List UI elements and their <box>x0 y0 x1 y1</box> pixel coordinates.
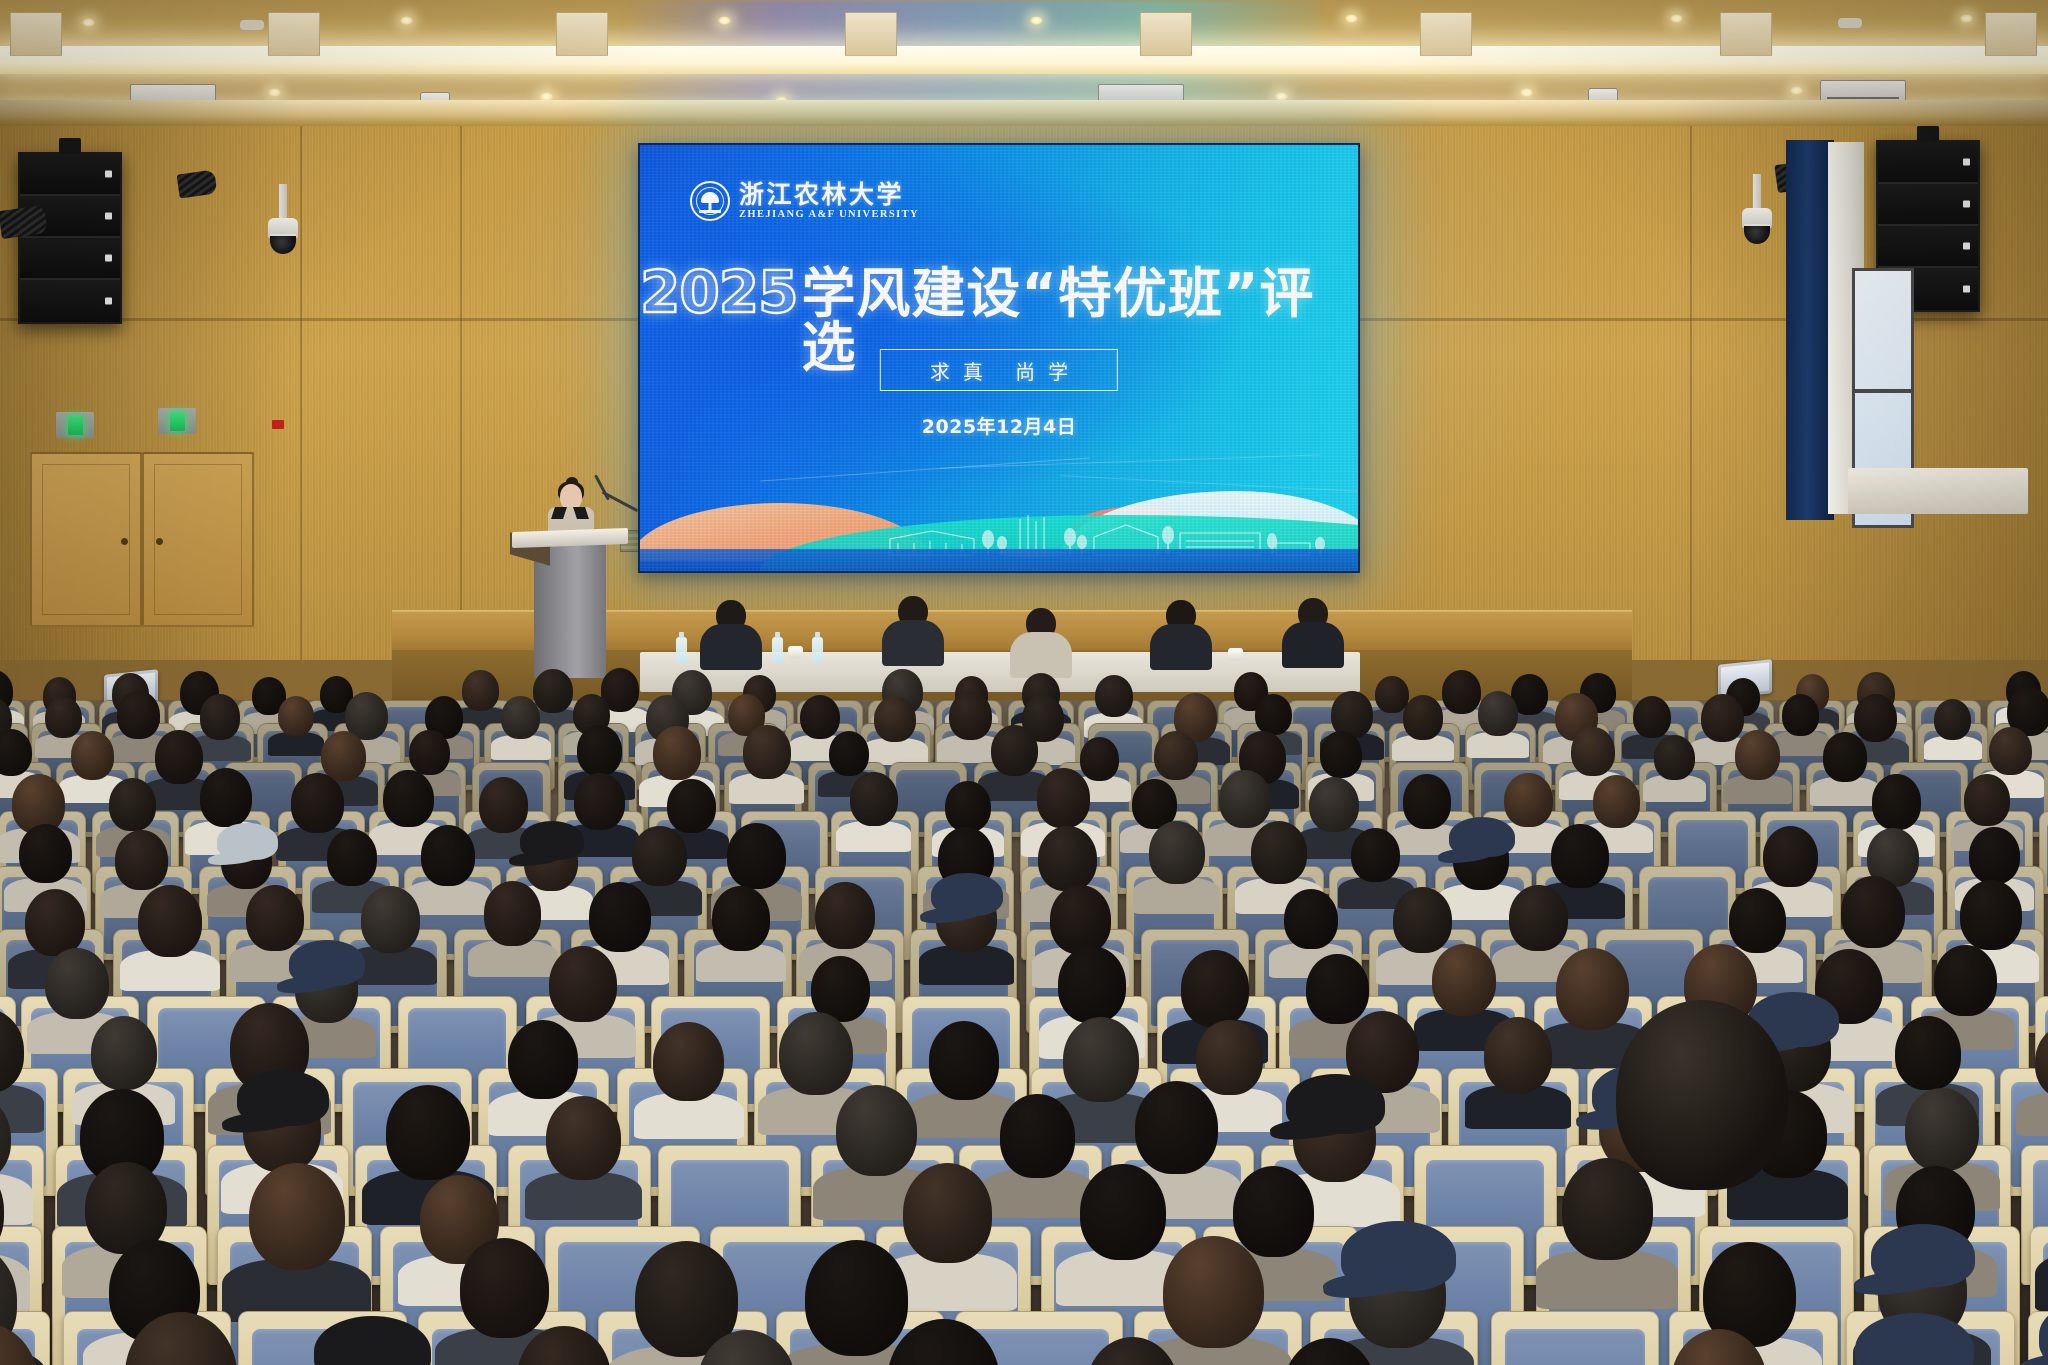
audience-head <box>1038 826 1096 891</box>
audience-head <box>1671 1329 1767 1365</box>
audience-head <box>945 781 991 832</box>
audience-head <box>1163 1236 1263 1348</box>
audience-member <box>155 730 203 784</box>
audience-member <box>19 824 72 883</box>
screen-illustration <box>640 451 1358 571</box>
audience-head <box>1593 775 1640 828</box>
auditorium-door-left-1 <box>30 452 142 627</box>
audience-head <box>697 1330 796 1365</box>
ceiling-sprinkler <box>1838 18 1862 28</box>
audience-head <box>246 885 304 950</box>
ceiling-panel <box>1420 12 1472 56</box>
audience-head <box>1905 1088 1979 1171</box>
audience-member <box>1735 730 1779 780</box>
audience-head <box>1393 887 1453 954</box>
audience-member <box>1284 889 1338 950</box>
audience-head <box>1934 699 1971 741</box>
wall-seam <box>460 126 462 660</box>
audience-member <box>546 1096 621 1180</box>
audience-head <box>727 823 786 889</box>
tea-cup <box>788 646 803 659</box>
audience-member <box>462 670 498 711</box>
panelist-body <box>1282 622 1344 668</box>
audience-member <box>1181 950 1249 1027</box>
audience-head <box>0 729 32 776</box>
audience-member <box>246 885 304 950</box>
audience-head <box>200 768 252 827</box>
camera-operator <box>1616 1000 1788 1190</box>
fire-alarm-left <box>272 420 284 429</box>
audience-head <box>383 770 434 827</box>
ceiling-downlight <box>1520 88 1533 97</box>
ceiling-downlight <box>1790 86 1803 95</box>
audience-member <box>1969 827 2020 884</box>
audience-head <box>653 1022 724 1101</box>
audience-head <box>1763 826 1818 888</box>
baseball-cap <box>237 1070 329 1126</box>
audience-member <box>697 1330 796 1365</box>
audience-head <box>409 730 449 775</box>
audience-head <box>1782 694 1819 736</box>
audience-member <box>1934 699 1971 741</box>
audience-member <box>1478 691 1518 736</box>
baseball-cap <box>1341 1221 1456 1291</box>
audience-member <box>1403 695 1443 740</box>
audience-member <box>929 1021 999 1100</box>
panelist-body <box>700 624 762 670</box>
audience-head <box>1080 1164 1166 1260</box>
audience-member <box>1863 1331 1964 1365</box>
audience-head <box>71 731 114 780</box>
ceiling-panel <box>10 12 62 56</box>
audience-member <box>1251 821 1308 884</box>
audience-head <box>1135 1081 1218 1174</box>
audience-head <box>1895 1016 1961 1090</box>
audience-member <box>1086 1337 1180 1365</box>
audience-head <box>949 692 992 740</box>
audience-head <box>549 946 617 1022</box>
audience-head <box>1484 1017 1552 1093</box>
audience-head <box>1633 696 1671 739</box>
auditorium-seat[interactable] <box>1491 1311 1660 1365</box>
audience-head <box>874 696 916 743</box>
audience-member <box>589 882 651 952</box>
audience-member <box>779 1012 853 1095</box>
baseball-cap <box>1286 1074 1385 1134</box>
audience-member <box>887 1319 1000 1365</box>
screen-date: 2025年12月4日 <box>640 412 1358 439</box>
audience-member <box>1763 826 1818 888</box>
audience-head <box>589 882 651 952</box>
audience-head <box>743 725 791 779</box>
audience-member <box>479 777 528 832</box>
audience-head <box>779 1012 853 1095</box>
audience-member <box>91 1016 157 1090</box>
audience-member <box>0 1323 38 1365</box>
hill-deep-blue <box>640 549 1358 571</box>
audience-member <box>1453 827 1509 890</box>
audience-member <box>1484 1017 1552 1093</box>
screen-subtitle-frame: 求真 尚学 <box>880 349 1118 391</box>
audience-member <box>1905 1088 1979 1171</box>
camera-pole <box>1753 174 1761 210</box>
camera-dome <box>1744 224 1770 244</box>
speaker-module <box>1878 184 1978 226</box>
ceiling-panel <box>1985 12 2037 56</box>
baseball-cap <box>931 873 1003 917</box>
water-bottle <box>772 637 783 663</box>
audience-member <box>278 696 314 736</box>
bracket-right-icon <box>1107 349 1118 391</box>
audience-member <box>1320 731 1362 779</box>
audience-head <box>1251 821 1308 884</box>
audience-member <box>1163 1236 1263 1348</box>
ceiling-panel <box>556 12 608 56</box>
water-bottle <box>676 637 687 663</box>
audience-member <box>1255 694 1292 735</box>
audience-member <box>1934 945 1997 1016</box>
audience-member <box>1351 828 1400 883</box>
audience-head <box>1654 735 1695 780</box>
audience-member <box>949 692 992 740</box>
audience-head <box>517 1326 610 1365</box>
audience-member <box>1895 1016 1961 1090</box>
audience-head <box>1154 731 1198 780</box>
audience-member <box>1671 1329 1767 1365</box>
audience-member <box>484 881 542 946</box>
audience-head <box>125 1312 237 1365</box>
speaker-module <box>1878 226 1978 268</box>
audience-member <box>1442 670 1481 714</box>
audience-head <box>0 1009 24 1092</box>
audience-member <box>1823 732 1868 782</box>
audience-member <box>0 729 32 776</box>
audience-member <box>1633 696 1671 739</box>
audience-head <box>829 731 869 776</box>
audience-head <box>1284 889 1338 950</box>
audience-head <box>1735 730 1779 780</box>
panelist-body <box>882 620 944 666</box>
audience-member <box>829 731 869 776</box>
panelist-body <box>1150 624 1212 670</box>
ceiling-panel <box>845 12 897 56</box>
led-screen-surface: 浙江农林大学 ZHEJIANG A&F UNIVERSITY 2025 学风建设… <box>640 145 1358 571</box>
audience-member <box>1095 675 1133 717</box>
audience-head <box>460 1238 549 1338</box>
ceiling-downlight <box>1960 14 1973 23</box>
audience-head <box>462 670 498 711</box>
audience-member <box>291 773 344 832</box>
audience-member <box>1504 773 1552 827</box>
audience-head <box>1989 727 2032 775</box>
audience-member <box>574 773 625 830</box>
audience-member <box>249 1163 345 1271</box>
exit-sign-left-1 <box>56 412 94 438</box>
bracket-left-icon <box>880 349 891 391</box>
audience-head <box>361 886 421 953</box>
ceiling-panel <box>268 12 320 56</box>
audience-head <box>19 824 72 883</box>
audience-head <box>1403 774 1452 829</box>
audience-head <box>1000 1094 1074 1177</box>
audience-member <box>409 730 449 775</box>
audience-head <box>1509 885 1568 951</box>
audience-head <box>1551 824 1608 888</box>
university-logo: 浙江农林大学 ZHEJIANG A&F UNIVERSITY <box>690 181 919 221</box>
exit-sign-glow <box>68 416 83 435</box>
audience-head <box>1478 691 1518 736</box>
ceiling-panel <box>1140 12 1192 56</box>
audience-head <box>327 829 377 886</box>
audience-member <box>1037 768 1091 828</box>
title-year: 2025 <box>640 263 797 321</box>
audience-head <box>653 726 702 780</box>
audience-head <box>1050 885 1112 954</box>
audience-head <box>1960 880 2022 949</box>
audience-member <box>850 772 898 826</box>
audience-head <box>632 826 686 887</box>
tea-cup <box>1228 648 1243 661</box>
audience-member <box>549 946 617 1022</box>
audience-head <box>1969 827 2020 884</box>
panelist-body <box>1010 632 1072 678</box>
audience-head <box>501 696 540 739</box>
audience-member <box>221 832 272 889</box>
audience-member <box>2035 1024 2048 1100</box>
university-crest-icon <box>690 181 730 221</box>
audience-head <box>1964 774 2010 826</box>
audience-member <box>1782 694 1819 736</box>
audience-member <box>1149 821 1205 884</box>
speaker-module <box>1878 142 1978 184</box>
audience-member <box>1593 775 1640 828</box>
audience-member <box>903 1163 993 1263</box>
audience-head <box>1255 694 1292 735</box>
baseball-cap <box>1449 817 1515 857</box>
baseball-cap <box>1871 1224 1975 1287</box>
subtitle-bar: 求真 尚学 <box>891 349 1107 391</box>
audience-head <box>1086 1337 1180 1365</box>
audience-head <box>1219 770 1271 829</box>
audience-member <box>327 829 377 886</box>
audience-head <box>479 777 528 832</box>
baseball-cap <box>520 821 584 860</box>
audience-head <box>1504 773 1552 827</box>
audience-member <box>71 731 114 780</box>
audience-member <box>1964 774 2010 826</box>
audience-member <box>125 1312 237 1365</box>
audience-head <box>1309 777 1359 833</box>
audience-member <box>727 823 786 889</box>
audience-head <box>45 948 109 1020</box>
audience-head <box>25 889 85 957</box>
audience-head <box>850 772 898 826</box>
baseball-cap <box>289 940 364 986</box>
audience-member <box>1403 774 1452 829</box>
audience-head <box>1432 944 1496 1016</box>
audience-member <box>200 694 240 739</box>
ceiling-panel <box>1720 12 1772 56</box>
audience-member <box>383 770 434 827</box>
audience-member <box>1509 885 1568 951</box>
ceiling-sprinkler <box>240 20 264 30</box>
exit-sign-left-2 <box>158 408 196 434</box>
audience-head <box>1351 828 1400 883</box>
audience-member <box>1309 777 1359 833</box>
audience-member <box>632 826 686 887</box>
audience-member <box>322 1334 421 1365</box>
audience-head <box>577 725 622 776</box>
audience-member <box>1038 826 1096 891</box>
side-table-right <box>1848 468 2028 514</box>
audience-head <box>278 696 314 736</box>
audience-head <box>117 691 160 739</box>
audience-member <box>386 1085 471 1180</box>
audience-member <box>1349 1239 1446 1348</box>
audience-head <box>249 1163 345 1271</box>
audience-member <box>1551 824 1608 888</box>
audience-head <box>138 885 202 957</box>
audience-head <box>1037 768 1091 828</box>
audience-member <box>517 1326 610 1365</box>
audience-head <box>115 830 168 890</box>
audience-member <box>1654 735 1695 780</box>
operator-head <box>1616 1000 1788 1190</box>
audience-member <box>508 1020 578 1099</box>
audience-member <box>117 691 160 739</box>
audience-member <box>1080 1164 1166 1260</box>
audience-member <box>815 882 875 949</box>
audience-member <box>138 885 202 957</box>
wall-seam <box>300 126 302 660</box>
audience-head <box>2035 1024 2048 1100</box>
camera-dome <box>270 234 296 254</box>
ptz-camera-right <box>1742 208 1772 246</box>
audience-member <box>243 1084 321 1172</box>
audience-member <box>653 726 702 780</box>
ceiling-downlight <box>82 18 95 27</box>
ptz-camera-left <box>268 218 298 256</box>
speaker-module <box>20 238 120 280</box>
audience-head <box>1095 675 1133 717</box>
audience-member <box>1135 1081 1218 1174</box>
baseball-cap <box>217 823 277 860</box>
audience-member <box>501 696 540 739</box>
audience-member <box>109 778 156 831</box>
auditorium-door-left-2 <box>142 452 254 627</box>
blue-curtain-right <box>1786 140 1834 520</box>
audience-member <box>1283 1338 1376 1365</box>
audience-member <box>1063 1017 1139 1102</box>
audience-head <box>546 1096 621 1180</box>
audience-head <box>991 725 1037 777</box>
audience-head <box>1934 945 1997 1016</box>
audience-member <box>1050 885 1112 954</box>
window-mullion <box>1855 389 1911 393</box>
ceiling-downlight <box>1670 14 1683 23</box>
audience-member <box>577 725 622 776</box>
audience-head <box>1442 670 1481 714</box>
audience-member <box>1000 1094 1074 1177</box>
audience-member <box>1872 774 1922 830</box>
ceiling-downlight <box>718 16 731 25</box>
audience-head <box>1283 1338 1376 1365</box>
audience-head <box>1181 950 1249 1027</box>
audience-head <box>0 1323 38 1365</box>
audience-head <box>291 773 344 832</box>
audience-member <box>1154 731 1198 780</box>
audience-head <box>712 886 770 950</box>
audience-member <box>1432 944 1496 1016</box>
audience-head <box>386 1085 471 1180</box>
audience-head <box>1841 876 1905 948</box>
audience-head <box>200 694 240 739</box>
audience-member <box>653 1022 724 1101</box>
audience-member <box>25 889 85 957</box>
audience-head <box>155 730 203 784</box>
audience-head <box>109 778 156 831</box>
audience-member <box>743 725 791 779</box>
university-name-cn: 浙江农林大学 <box>739 182 919 207</box>
audience-head <box>1058 946 1126 1022</box>
audience-head <box>1063 1017 1139 1102</box>
audience-head <box>421 825 476 886</box>
exit-sign-glow <box>170 412 185 431</box>
audience-member <box>712 886 770 950</box>
audience-member <box>361 886 421 953</box>
audience-head <box>887 1319 1000 1365</box>
audience-member <box>1960 880 2022 949</box>
ceiling-downlight <box>400 16 413 25</box>
audience-head <box>508 1020 578 1099</box>
audience-head <box>1320 731 1362 779</box>
audience-member <box>421 825 476 886</box>
audience-head <box>929 1021 999 1100</box>
audience-member <box>200 768 252 827</box>
audience-member <box>1989 727 2032 775</box>
audience-member <box>991 725 1037 777</box>
speaker-module <box>20 280 120 322</box>
audience-head <box>1571 727 1615 776</box>
audience-member <box>45 948 109 1020</box>
camera-pole <box>279 184 287 220</box>
audience-member <box>0 1009 24 1092</box>
ceiling-downlight <box>1030 16 1043 25</box>
audience-member <box>936 884 997 952</box>
led-screen: 浙江农林大学 ZHEJIANG A&F UNIVERSITY 2025 学风建设… <box>638 143 1360 573</box>
screen-subtitle: 求真 尚学 <box>917 356 1081 385</box>
door-knob <box>121 538 128 545</box>
audience-member <box>1058 946 1126 1022</box>
ceiling-downlight <box>268 88 281 97</box>
water-bottle <box>812 637 823 663</box>
door-knob <box>156 538 163 545</box>
speaker-mount-bracket <box>1917 126 1939 142</box>
auditorium-scene: 浙江农林大学 ZHEJIANG A&F UNIVERSITY 2025 学风建设… <box>0 0 2048 1365</box>
audience-member <box>874 696 916 743</box>
audience-member <box>115 830 168 890</box>
audience-member <box>460 1238 549 1338</box>
audience-member <box>1393 887 1453 954</box>
audience-head <box>1823 732 1868 782</box>
audience-member <box>945 781 991 832</box>
ceiling-downlight <box>1345 14 1358 23</box>
audience-member <box>1571 727 1615 776</box>
audience-head <box>1149 821 1205 884</box>
university-name-en: ZHEJIANG A&F UNIVERSITY <box>739 210 919 221</box>
audience-head <box>1872 774 1922 830</box>
audience-member <box>1219 770 1271 829</box>
